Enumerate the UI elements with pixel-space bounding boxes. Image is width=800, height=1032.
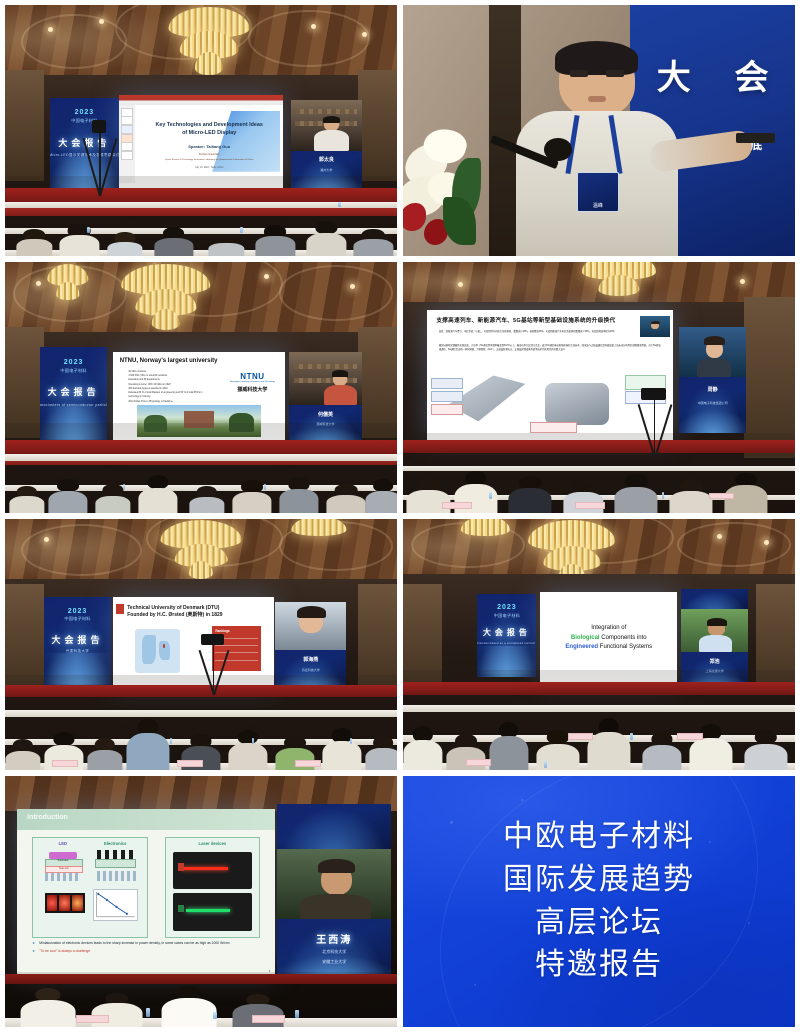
main-projection-screen: Integration of Biological Components int… (540, 592, 677, 682)
side-screen-top (277, 804, 391, 849)
slide-speaker-label: Speaker: (188, 144, 205, 149)
slide-line1: Integration of (591, 625, 626, 631)
remote-speaker-video-feed (289, 352, 362, 405)
presentation-slide: Introduction LED Electronics Substrate H… (17, 809, 276, 975)
chandelier (575, 262, 661, 307)
remote-speaker-video-feed (679, 327, 746, 377)
caption-line-2: 国际发展趋势 (503, 859, 695, 902)
slide-title-line2: Founded by H.C. Ørsted (奥斯特) in 1829 (127, 612, 222, 618)
slide-bullet: "To be cool" is always a challenge (39, 949, 90, 953)
chandelier (154, 519, 248, 584)
remote-speaker-name-banner: 周静 中国电子科技集团公司 (679, 377, 746, 432)
remote-speaker-video-feed (275, 602, 346, 650)
photo-conference-hall-dtu[interactable]: 2023 中国电子材料 大会报告 丹麦科技大学 Technical Univer… (5, 519, 397, 770)
left-event-banner: 2023 中国电子材料 大会报告 The use of biomass-base… (477, 594, 536, 677)
banner-year: 2023 (494, 604, 520, 613)
slide-speaker-name: Tailiang Guo (206, 144, 230, 149)
slide-bullet: 2014 Nobel Prize in Physiology or Medici… (128, 400, 211, 404)
audience (403, 433, 795, 513)
presentation-slide: Technical University of Denmark (DTU) Fo… (113, 597, 274, 685)
camera-tripod (638, 388, 669, 458)
photo-conference-hall-microled[interactable]: 2023 中国电子材料 大会报告 Micro-LED显示关键技术及发展思路探讨 (5, 5, 397, 256)
slide-line2: Components into (601, 635, 646, 641)
slide-title: NTNU, Norway's largest university (120, 358, 218, 364)
slide-highlight-biological: Biological (571, 635, 600, 641)
main-projection-screen: Introduction LED Electronics Substrate H… (17, 809, 276, 975)
remote-speaker-video-feed (681, 609, 748, 652)
camera-tripod (197, 634, 228, 694)
remote-speaker-video-feed (291, 100, 362, 150)
audience (5, 176, 397, 256)
slide-header: Introduction (27, 814, 68, 821)
inline-video-feed (640, 316, 670, 337)
speaker-badge: 温峰 (577, 172, 619, 212)
feed-caption-org-1: 北京科技大学 (277, 949, 391, 955)
feed-caption-name: 周静 (679, 386, 746, 393)
slide-bullet: Miniaturization of electronic devices le… (39, 941, 230, 945)
diagram-label-led: LED (39, 841, 87, 846)
dtu-logo (116, 604, 124, 615)
slide-title-line2: of Micro-LED Display (182, 130, 236, 136)
badge-name: 温峰 (578, 202, 618, 209)
remote-speaker-video-feed (277, 849, 391, 919)
presentation-slide: Integration of Biological Components int… (540, 592, 677, 682)
diagram-label-electronics: Electronics (89, 841, 141, 846)
caption-line-3: 高层论坛 (503, 902, 695, 945)
banner-org: 中国电子材料 (60, 368, 86, 373)
main-projection-screen: 支撑高速列车、新能源汽车、5G基站等新型基础设施系统的升级换代 高铁、新能源汽车… (427, 310, 674, 441)
banner-year: 2023 (64, 608, 90, 617)
feed-caption-name: 王西涛 (277, 931, 391, 946)
slide-bullet: 高铁、新能源汽车牵引、电控系统「心脏」，可使用列车的动力系统体积、重量减小20%… (439, 331, 661, 335)
remote-speaker-name-banner: 王西涛 北京科技大学 安徽工业大学 (277, 919, 391, 979)
chandelier (287, 519, 350, 554)
banner-year: 2023 (60, 359, 86, 368)
diagram-label-laser: Laser devices (166, 841, 259, 846)
banner-headline: 大会报告 (483, 627, 531, 638)
slide-bullet: Educates 80 % of total Masters of engine… (128, 391, 211, 399)
slide-affiliation2: Fujian Science & Technology Innovation L… (165, 159, 253, 161)
presentation-slide: 支撑高速列车、新能源汽车、5G基站等新型基础设施系统的升级换代 高铁、新能源汽车… (427, 310, 674, 441)
feed-caption-org: 丹麦科技大学 (275, 668, 346, 672)
feed-caption-org-2: 安徽工业大学 (277, 959, 391, 965)
chandelier (162, 5, 256, 83)
banner-year: 2023 (71, 109, 97, 118)
photo-conference-hall-infrastructure[interactable]: 支撑高速列车、新能源汽车、5G基站等新型基础设施系统的升级换代 高铁、新能源汽车… (403, 262, 795, 513)
chandelier (44, 262, 91, 312)
feed-caption-name: 郑浩 (681, 658, 748, 665)
line-chart-icon (94, 890, 137, 920)
feed-caption-org: 中国电子科技集团公司 (679, 401, 746, 405)
diagram-label-heatsink: Heat sink (45, 866, 83, 873)
feed-caption-org: 福州大学 (291, 168, 362, 172)
feed-caption-name: 何儒英 (289, 411, 362, 418)
laser-devices-box: Laser devices (165, 837, 260, 938)
photo-conference-hall-biological[interactable]: 2023 中国电子材料 大会报告 The use of biomass-base… (403, 519, 795, 770)
photo-collage: 2023 中国电子材料 大会报告 Micro-LED显示关键技术及发展思路探讨 (0, 0, 800, 1032)
slide-highlight-engineered: Engineered (565, 644, 598, 650)
banner-headline: 大会报告 (48, 385, 100, 398)
main-projection-screen: Technical University of Denmark (DTU) Fo… (113, 597, 274, 685)
chandelier (458, 519, 513, 554)
denmark-map (135, 629, 180, 673)
caption-panel: 中欧电子材料 国际发展趋势 高层论坛 特邀报告 (403, 776, 795, 1027)
slide-line3: Functional Systems (600, 644, 652, 650)
diagram-group-box: LED Electronics Substrate Heat sink (32, 837, 148, 938)
left-event-banner: 2023 中国电子材料 大会报告 丹麦科技大学 (44, 597, 111, 687)
audience (5, 423, 397, 513)
banner-org: 中国电子材料 (494, 613, 520, 618)
slide-figure-car (545, 383, 609, 425)
caption-line-4: 特邀报告 (503, 944, 695, 987)
diagram-label-substrate: Substrate (45, 859, 81, 866)
photo-conference-hall-ntnu[interactable]: 2023 中国电子材料 大会报告 Nanoclusters of semicon… (5, 262, 397, 513)
flower-arrangement (403, 115, 505, 256)
caption-line-1: 中欧电子材料 (503, 816, 695, 859)
slide-title-line1: Key Technologies and Development Ideas (155, 122, 262, 128)
camera-tripod (87, 120, 111, 195)
presenter-remote (736, 133, 775, 143)
presentation-slide: Key Technologies and Development Ideas o… (119, 95, 284, 188)
caption-text-block: 中欧电子材料 国际发展趋势 高层论坛 特邀报告 (503, 816, 695, 986)
slide-title: 支撑高速列车、新能源汽车、5G基站等新型基础设施系统的升级换代 (436, 316, 663, 324)
slide-date-place: July 13, 2023 · Hefei, Anhui (195, 167, 223, 169)
banner-org: 中国电子材料 (64, 616, 90, 621)
slide-bullet: 碳化硅基氮化镓器件实现高效、大功率（5G通信需求频率覆盖到6GHz以上，输出功率… (439, 345, 661, 353)
chandelier (115, 262, 217, 337)
side-screen (681, 589, 748, 609)
audience (5, 972, 397, 1027)
slide-affiliation: Fuzhou University (199, 153, 220, 156)
audience (403, 670, 795, 770)
ntnu-logo: NTNU Norwegian University of Science and… (230, 372, 275, 394)
photo-screen-introduction[interactable]: Introduction LED Electronics Substrate H… (5, 776, 397, 1027)
banner-headline: 大会报告 (51, 633, 103, 646)
feed-caption-name: 郭太良 (291, 156, 362, 163)
main-projection-screen: Key Technologies and Development Ideas o… (119, 95, 284, 188)
feed-caption-name: 郭海燕 (275, 656, 346, 663)
photo-speaker-portrait[interactable]: 大 会 SiC基复合压电衬底 温峰 (403, 5, 795, 256)
slide-title-line1: Technical University of Denmark (DTU) (127, 605, 219, 611)
